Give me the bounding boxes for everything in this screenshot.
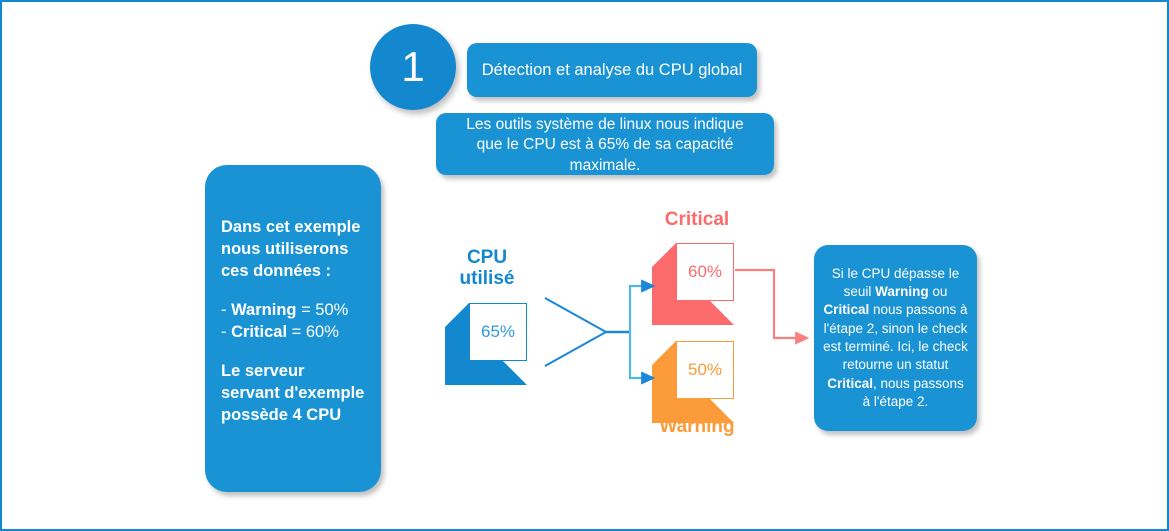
comparison-arm-top xyxy=(545,298,606,332)
conclusion-text-2: ou xyxy=(929,284,948,299)
conclusion-bold-critical-1: Critical xyxy=(823,302,869,317)
critical-name: Critical xyxy=(231,323,287,341)
server-line-2: servant d'exemple xyxy=(221,383,365,405)
cpu-value-cube: 65% xyxy=(445,303,527,385)
slide-canvas: 1 Détection et analyse du CPU global Les… xyxy=(0,0,1169,531)
server-description: Le serveur servant d'exemple possède 4 C… xyxy=(221,361,365,427)
intro-line-3: ces données : xyxy=(221,261,365,283)
warning-value-text: 50% xyxy=(688,360,722,380)
info-line-1: Les outils système de linux nous indique xyxy=(448,115,762,135)
cpu-cube-face: 65% xyxy=(469,303,527,361)
step-title-banner: Détection et analyse du CPU global xyxy=(467,43,757,97)
threshold-warning-row: - Warning = 50% xyxy=(221,300,365,322)
server-line-1: Le serveur xyxy=(221,361,365,383)
branch-to-critical xyxy=(630,286,653,332)
warning-value: = 50% xyxy=(296,301,348,319)
warning-bullet: - xyxy=(221,301,231,319)
cpu-used-label: CPU utilisé xyxy=(440,248,534,290)
branch-to-warning xyxy=(630,332,653,378)
example-data-intro: Dans cet exemple nous utiliserons ces do… xyxy=(221,217,365,283)
critical-value-text: 60% xyxy=(688,262,722,282)
comparison-arm-bottom xyxy=(545,332,606,366)
cpu-value-text: 65% xyxy=(481,322,515,342)
critical-threshold-label: Critical xyxy=(632,210,762,231)
step-title-text: Détection et analyse du CPU global xyxy=(482,61,743,80)
conclusion-bold-warning: Warning xyxy=(875,284,929,299)
warning-value-cube: 50% xyxy=(652,341,734,423)
info-callout: Les outils système de linux nous indique… xyxy=(436,113,774,175)
info-line-3: maximale. xyxy=(448,156,762,176)
critical-cube-face: 60% xyxy=(676,243,734,301)
critical-value: = 60% xyxy=(287,323,339,341)
conclusion-text: Si le CPU dépasse le seuil Warning ou Cr… xyxy=(823,265,968,412)
critical-value-cube: 60% xyxy=(652,243,734,325)
step-number-badge: 1 xyxy=(370,24,456,110)
warning-name: Warning xyxy=(231,301,296,319)
conclusion-text-4: , nous passons à l'étape 2. xyxy=(863,376,964,409)
conclusion-callout: Si le CPU dépasse le seuil Warning ou Cr… xyxy=(814,245,977,431)
server-line-3: possède 4 CPU xyxy=(221,405,365,427)
intro-line-2: nous utiliserons xyxy=(221,239,365,261)
info-line-2: que le CPU est à 65% de sa capacité xyxy=(448,135,762,155)
warning-cube-face: 50% xyxy=(676,341,734,399)
critical-to-conclusion-connector xyxy=(735,270,807,338)
step-number: 1 xyxy=(401,46,424,88)
intro-line-1: Dans cet exemple xyxy=(221,217,365,239)
threshold-critical-row: - Critical = 60% xyxy=(221,322,365,344)
critical-bullet: - xyxy=(221,323,231,341)
conclusion-bold-critical-2: Critical xyxy=(827,376,873,391)
example-data-panel: Dans cet exemple nous utiliserons ces do… xyxy=(205,165,381,492)
threshold-list: - Warning = 50% - Critical = 60% xyxy=(221,300,365,344)
